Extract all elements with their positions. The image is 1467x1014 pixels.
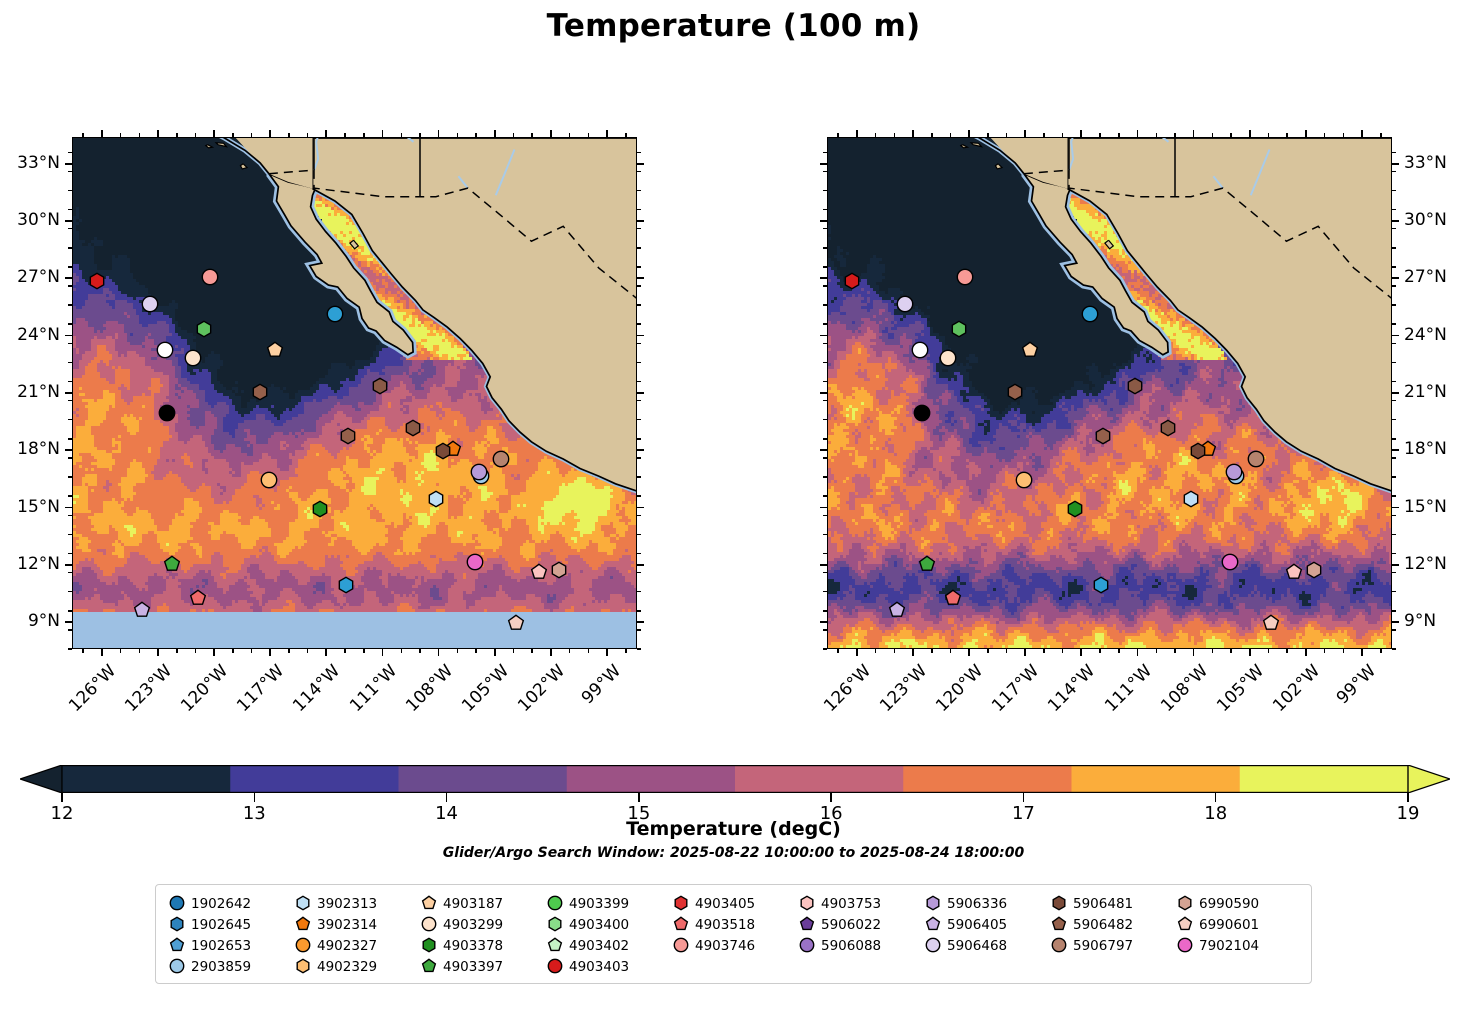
y-minor-tickmark: [823, 266, 827, 268]
legend-label: 3902314: [314, 917, 377, 933]
legend-marker-icon: [922, 935, 944, 956]
x-tick-label: 126°W: [814, 661, 875, 722]
platform-marker[interactable]: [1262, 614, 1280, 632]
x-tick-label: 114°W: [284, 661, 345, 722]
legend-column: 4903399490340049034024903403: [544, 893, 629, 977]
x-minor-tickmark: [1343, 133, 1345, 137]
x-minor-tickmark: [1043, 133, 1045, 137]
platform-marker[interactable]: [1006, 383, 1024, 401]
y-tickmark: [637, 449, 644, 451]
legend-item[interactable]: 4903378: [418, 935, 503, 956]
platform-marker[interactable]: [913, 404, 931, 422]
colorbar-label: Temperature (degC): [0, 818, 1467, 840]
x-tick-label: 108°W: [396, 661, 457, 722]
x-minor-tickmark: [1118, 133, 1120, 137]
legend-marker-icon: [292, 914, 314, 935]
platform-marker[interactable]: [163, 555, 181, 573]
y-minor-tickmark: [823, 152, 827, 154]
platform-marker[interactable]: [133, 601, 151, 619]
map-panel-rtofs[interactable]: RTOFS - 2025-08-24 18:00:00: [72, 137, 637, 649]
platform-marker[interactable]: [1182, 490, 1200, 508]
x-minor-tickmark: [288, 649, 290, 653]
x-minor-tickmark: [288, 133, 290, 137]
platform-marker[interactable]: [944, 589, 962, 607]
x-tick-label: 117°W: [983, 661, 1044, 722]
y-tickmark: [1392, 507, 1399, 509]
x-minor-tickmark: [987, 133, 989, 137]
legend-label: 1902645: [188, 917, 251, 933]
y-minor-tickmark: [637, 285, 641, 287]
y-minor-tickmark: [1392, 438, 1396, 440]
platform-marker[interactable]: [1225, 463, 1243, 481]
legend-item[interactable]: 5906022: [796, 914, 881, 935]
y-tick-label: 15°N: [1404, 497, 1467, 517]
x-tickmark: [1361, 130, 1363, 137]
platform-marker[interactable]: [201, 268, 219, 286]
platform-marker[interactable]: [939, 349, 957, 367]
legend-label: 5906405: [944, 917, 1007, 933]
legend-item[interactable]: 2903859: [166, 956, 251, 977]
x-tickmark: [1080, 130, 1082, 137]
platform-marker[interactable]: [326, 305, 344, 323]
x-minor-tickmark: [401, 649, 403, 653]
x-minor-tickmark: [987, 649, 989, 653]
x-minor-tickmark: [82, 133, 84, 137]
legend-marker-icon: [166, 914, 188, 935]
legend-marker-icon: [544, 914, 566, 935]
legend-column: 590648159064825906797: [1048, 893, 1133, 956]
x-minor-tickmark: [588, 133, 590, 137]
legend-item[interactable]: 3902314: [292, 914, 377, 935]
platform-marker[interactable]: [530, 563, 548, 581]
y-minor-tickmark: [68, 381, 72, 383]
legend-item[interactable]: 4903402: [544, 935, 629, 956]
x-minor-tickmark: [1099, 133, 1101, 137]
platform-marker[interactable]: [1021, 341, 1039, 359]
x-minor-tickmark: [419, 649, 421, 653]
x-minor-tickmark: [120, 649, 122, 653]
legend-item[interactable]: 1902645: [166, 914, 251, 935]
platform-marker[interactable]: [1285, 563, 1303, 581]
legend-label: 5906797: [1070, 938, 1133, 954]
y-minor-tickmark: [68, 209, 72, 211]
y-minor-tickmark: [637, 648, 641, 650]
x-minor-tickmark: [457, 649, 459, 653]
legend-label: 7902104: [1196, 938, 1259, 954]
y-minor-tickmark: [1392, 457, 1396, 459]
y-minor-tickmark: [637, 152, 641, 154]
platform-marker[interactable]: [427, 490, 445, 508]
y-minor-tickmark: [823, 285, 827, 287]
y-minor-tickmark: [1392, 553, 1396, 555]
legend-item[interactable]: 4903399: [544, 893, 629, 914]
x-tickmark: [550, 649, 552, 656]
y-minor-tickmark: [1392, 343, 1396, 345]
legend-label: 5906481: [1070, 896, 1133, 912]
y-minor-tickmark: [823, 190, 827, 192]
legend-label: 4903405: [692, 896, 755, 912]
legend-column: 4903187490329949033784903397: [418, 893, 503, 977]
platform-marker[interactable]: [888, 601, 906, 619]
legend-item[interactable]: 6990601: [1174, 914, 1259, 935]
y-tickmark: [820, 564, 827, 566]
x-minor-tickmark: [1156, 133, 1158, 137]
x-minor-tickmark: [625, 133, 627, 137]
y-tick-label: 21°N: [0, 382, 60, 402]
platform-marker[interactable]: [956, 268, 974, 286]
x-tickmark: [1361, 649, 1363, 656]
platform-marker[interactable]: [950, 320, 968, 338]
x-tickmark: [1137, 130, 1139, 137]
platform-marker[interactable]: [1092, 576, 1110, 594]
y-tickmark: [820, 449, 827, 451]
platform-marker[interactable]: [337, 576, 355, 594]
platform-marker[interactable]: [466, 553, 484, 571]
colorbar-gradient: [20, 765, 1450, 793]
y-minor-tickmark: [637, 515, 641, 517]
platform-marker[interactable]: [470, 463, 488, 481]
y-minor-tickmark: [637, 171, 641, 173]
y-minor-tickmark: [68, 152, 72, 154]
x-minor-tickmark: [176, 133, 178, 137]
x-minor-tickmark: [531, 649, 533, 653]
platform-marker[interactable]: [251, 383, 269, 401]
x-minor-tickmark: [251, 133, 253, 137]
legend-marker-icon: [166, 935, 188, 956]
legend-item[interactable]: 5906088: [796, 935, 881, 956]
platform-marker[interactable]: [1189, 442, 1207, 460]
y-minor-tickmark: [68, 438, 72, 440]
platform-marker[interactable]: [1081, 305, 1099, 323]
y-minor-tickmark: [68, 304, 72, 306]
platform-marker[interactable]: [158, 404, 176, 422]
y-minor-tickmark: [68, 228, 72, 230]
platform-marker[interactable]: [184, 349, 202, 367]
y-minor-tickmark: [1392, 362, 1396, 364]
y-tickmark: [820, 220, 827, 222]
x-minor-tickmark: [82, 649, 84, 653]
y-minor-tickmark: [823, 400, 827, 402]
x-tickmark: [1305, 130, 1307, 137]
y-minor-tickmark: [1392, 476, 1396, 478]
search-window-text: Glider/Argo Search Window: 2025-08-22 10…: [0, 845, 1467, 861]
x-tickmark: [1024, 130, 1026, 137]
x-minor-tickmark: [307, 649, 309, 653]
y-tickmark: [65, 564, 72, 566]
y-tickmark: [1392, 335, 1399, 337]
y-minor-tickmark: [1392, 572, 1396, 574]
legend-marker-icon: [292, 935, 314, 956]
x-minor-tickmark: [1380, 133, 1382, 137]
x-tickmark: [1193, 649, 1195, 656]
x-tickmark: [157, 130, 159, 137]
platform-marker[interactable]: [1066, 500, 1084, 518]
legend-marker-icon: [1174, 935, 1196, 956]
legend-item[interactable]: 4903299: [418, 914, 503, 935]
x-minor-tickmark: [1118, 649, 1120, 653]
y-minor-tickmark: [637, 572, 641, 574]
y-tickmark: [65, 335, 72, 337]
legend-item[interactable]: 3902313: [292, 893, 377, 914]
y-tick-label: 30°N: [1404, 210, 1467, 230]
platform-marker[interactable]: [266, 341, 284, 359]
legend-column: 3902313390231449023274902329: [292, 893, 377, 977]
y-minor-tickmark: [823, 648, 827, 650]
y-tickmark: [65, 449, 72, 451]
y-minor-tickmark: [68, 515, 72, 517]
y-minor-tickmark: [637, 304, 641, 306]
y-minor-tickmark: [1392, 534, 1396, 536]
platform-marker[interactable]: [507, 614, 525, 632]
platform-marker[interactable]: [404, 419, 422, 437]
y-minor-tickmark: [1392, 209, 1396, 211]
y-minor-tickmark: [637, 476, 641, 478]
x-minor-tickmark: [195, 649, 197, 653]
x-minor-tickmark: [195, 133, 197, 137]
x-minor-tickmark: [875, 133, 877, 137]
y-minor-tickmark: [637, 438, 641, 440]
y-tickmark: [65, 220, 72, 222]
platform-marker[interactable]: [550, 561, 568, 579]
legend-label: 3902313: [314, 896, 377, 912]
x-minor-tickmark: [475, 649, 477, 653]
platform-marker[interactable]: [1094, 427, 1112, 445]
y-tickmark: [637, 163, 644, 165]
x-tick-label: 120°W: [927, 661, 988, 722]
y-tick-label: 12°N: [1404, 554, 1467, 574]
x-minor-tickmark: [457, 133, 459, 137]
y-minor-tickmark: [68, 534, 72, 536]
platform-marker[interactable]: [434, 442, 452, 460]
legend-label: 4903402: [566, 938, 629, 954]
y-minor-tickmark: [1392, 323, 1396, 325]
x-minor-tickmark: [1099, 649, 1101, 653]
y-tickmark: [637, 220, 644, 222]
y-tickmark: [637, 621, 644, 623]
platform-marker[interactable]: [1126, 377, 1144, 395]
legend-label: 5906088: [818, 938, 881, 954]
legend-marker-icon: [922, 893, 944, 914]
legend-item[interactable]: 5906468: [922, 935, 1007, 956]
platform-marker[interactable]: [141, 295, 159, 313]
legend-item[interactable]: 4902329: [292, 956, 377, 977]
legend-item[interactable]: 4903753: [796, 893, 881, 914]
y-tickmark: [1392, 392, 1399, 394]
x-minor-tickmark: [513, 649, 515, 653]
x-minor-tickmark: [1268, 649, 1270, 653]
platform-marker[interactable]: [88, 272, 106, 290]
legend-label: 4903399: [566, 896, 629, 912]
legend-marker-icon: [418, 935, 440, 956]
platform-marker[interactable]: [1159, 419, 1177, 437]
x-tickmark: [157, 649, 159, 656]
legend-label: 5906468: [944, 938, 1007, 954]
y-tick-label: 18°N: [0, 439, 60, 459]
legend-column: 699059069906017902104: [1174, 893, 1259, 956]
legend-label: 4903187: [440, 896, 503, 912]
platform-marker[interactable]: [1305, 561, 1323, 579]
x-minor-tickmark: [1324, 133, 1326, 137]
legend-item[interactable]: 4903187: [418, 893, 503, 914]
legend-item[interactable]: 4903400: [544, 914, 629, 935]
x-tickmark: [269, 649, 271, 656]
legend-marker-icon: [544, 935, 566, 956]
legend-column: 490375359060225906088: [796, 893, 881, 956]
platform-marker[interactable]: [918, 555, 936, 573]
legend-item[interactable]: 4903403: [544, 956, 629, 977]
y-minor-tickmark: [637, 266, 641, 268]
x-minor-tickmark: [1286, 133, 1288, 137]
x-minor-tickmark: [1006, 649, 1008, 653]
y-minor-tickmark: [68, 629, 72, 631]
x-minor-tickmark: [1212, 133, 1214, 137]
x-tick-label: 120°W: [172, 661, 233, 722]
x-tickmark: [269, 130, 271, 137]
platform-marker[interactable]: [260, 471, 278, 489]
platform-marker[interactable]: [1015, 471, 1033, 489]
x-minor-tickmark: [232, 649, 234, 653]
x-minor-tickmark: [1062, 649, 1064, 653]
platform-marker[interactable]: [1247, 450, 1265, 468]
colorbar-tickmark: [61, 793, 62, 802]
legend-marker-icon: [670, 893, 692, 914]
x-tick-label: 105°W: [452, 661, 513, 722]
y-minor-tickmark: [68, 343, 72, 345]
y-minor-tickmark: [68, 266, 72, 268]
y-minor-tickmark: [637, 209, 641, 211]
y-minor-tickmark: [823, 476, 827, 478]
y-minor-tickmark: [637, 610, 641, 612]
legend-marker-icon: [670, 935, 692, 956]
platform-marker[interactable]: [492, 450, 510, 468]
legend-item[interactable]: 6990590: [1174, 893, 1259, 914]
y-minor-tickmark: [637, 553, 641, 555]
x-minor-tickmark: [176, 649, 178, 653]
x-tick-label: 99°W: [564, 661, 625, 722]
x-tickmark: [101, 649, 103, 656]
platform-marker[interactable]: [156, 341, 174, 359]
x-minor-tickmark: [588, 649, 590, 653]
legend-item[interactable]: 4903746: [670, 935, 755, 956]
y-minor-tickmark: [637, 343, 641, 345]
x-tickmark: [1249, 649, 1251, 656]
legend-marker-icon: [166, 956, 188, 977]
legend-label: 4903753: [818, 896, 881, 912]
x-minor-tickmark: [931, 649, 933, 653]
y-minor-tickmark: [823, 323, 827, 325]
platform-legend[interactable]: 1902642190264519026532903859390231339023…: [155, 884, 1312, 984]
legend-marker-icon: [796, 935, 818, 956]
legend-label: 4903397: [440, 959, 503, 975]
platform-marker[interactable]: [371, 377, 389, 395]
y-tickmark: [820, 335, 827, 337]
legend-item[interactable]: 5906481: [1048, 893, 1133, 914]
legend-item[interactable]: 5906405: [922, 914, 1007, 935]
x-minor-tickmark: [569, 133, 571, 137]
platform-marker[interactable]: [195, 320, 213, 338]
legend-item[interactable]: 4903397: [418, 956, 503, 977]
x-tick-label: 108°W: [1151, 661, 1212, 722]
legend-item[interactable]: 4902327: [292, 935, 377, 956]
platform-marker[interactable]: [911, 341, 929, 359]
x-tick-label: 102°W: [508, 661, 569, 722]
y-tickmark: [65, 621, 72, 623]
legend-label: 1902653: [188, 938, 251, 954]
legend-marker-icon: [1048, 935, 1070, 956]
x-minor-tickmark: [1268, 133, 1270, 137]
y-minor-tickmark: [68, 419, 72, 421]
y-minor-tickmark: [1392, 228, 1396, 230]
legend-item[interactable]: 1902642: [166, 893, 251, 914]
platform-marker[interactable]: [843, 272, 861, 290]
y-minor-tickmark: [637, 400, 641, 402]
legend-item[interactable]: 7902104: [1174, 935, 1259, 956]
y-tick-label: 33°N: [0, 153, 60, 173]
legend-item[interactable]: 1902653: [166, 935, 251, 956]
x-minor-tickmark: [139, 649, 141, 653]
x-minor-tickmark: [1230, 133, 1232, 137]
y-tickmark: [65, 507, 72, 509]
x-minor-tickmark: [419, 133, 421, 137]
x-tickmark: [1193, 130, 1195, 137]
y-minor-tickmark: [68, 553, 72, 555]
y-minor-tickmark: [823, 572, 827, 574]
y-tickmark: [637, 507, 644, 509]
platform-marker[interactable]: [1221, 553, 1239, 571]
y-minor-tickmark: [823, 591, 827, 593]
platform-marker[interactable]: [189, 589, 207, 607]
x-minor-tickmark: [363, 133, 365, 137]
legend-item[interactable]: 4903518: [670, 914, 755, 935]
x-minor-tickmark: [1380, 649, 1382, 653]
y-minor-tickmark: [637, 323, 641, 325]
y-tickmark: [1392, 564, 1399, 566]
y-minor-tickmark: [68, 476, 72, 478]
x-minor-tickmark: [344, 649, 346, 653]
y-tickmark: [637, 564, 644, 566]
x-tickmark: [1024, 649, 1026, 656]
y-minor-tickmark: [823, 610, 827, 612]
map-panel-espc[interactable]: ESPC - 2025-08-24 18:00:00: [827, 137, 1392, 649]
legend-label: 5906482: [1070, 917, 1133, 933]
y-minor-tickmark: [823, 304, 827, 306]
x-tickmark: [494, 649, 496, 656]
legend-item[interactable]: 5906336: [922, 893, 1007, 914]
x-minor-tickmark: [1212, 649, 1214, 653]
x-minor-tickmark: [894, 133, 896, 137]
x-minor-tickmark: [139, 133, 141, 137]
x-tickmark: [1305, 649, 1307, 656]
platform-marker[interactable]: [339, 427, 357, 445]
y-minor-tickmark: [1392, 285, 1396, 287]
legend-item[interactable]: 5906482: [1048, 914, 1133, 935]
x-minor-tickmark: [1062, 133, 1064, 137]
legend-label: 4903400: [566, 917, 629, 933]
legend-item[interactable]: 5906797: [1048, 935, 1133, 956]
y-minor-tickmark: [1392, 266, 1396, 268]
x-tickmark: [438, 130, 440, 137]
legend-item[interactable]: 4903405: [670, 893, 755, 914]
x-tickmark: [912, 130, 914, 137]
x-tickmark: [438, 649, 440, 656]
platform-marker[interactable]: [311, 500, 329, 518]
platform-marker[interactable]: [896, 295, 914, 313]
y-minor-tickmark: [68, 591, 72, 593]
x-minor-tickmark: [232, 133, 234, 137]
y-minor-tickmark: [1392, 629, 1396, 631]
x-tickmark: [856, 130, 858, 137]
legend-marker-icon: [922, 914, 944, 935]
